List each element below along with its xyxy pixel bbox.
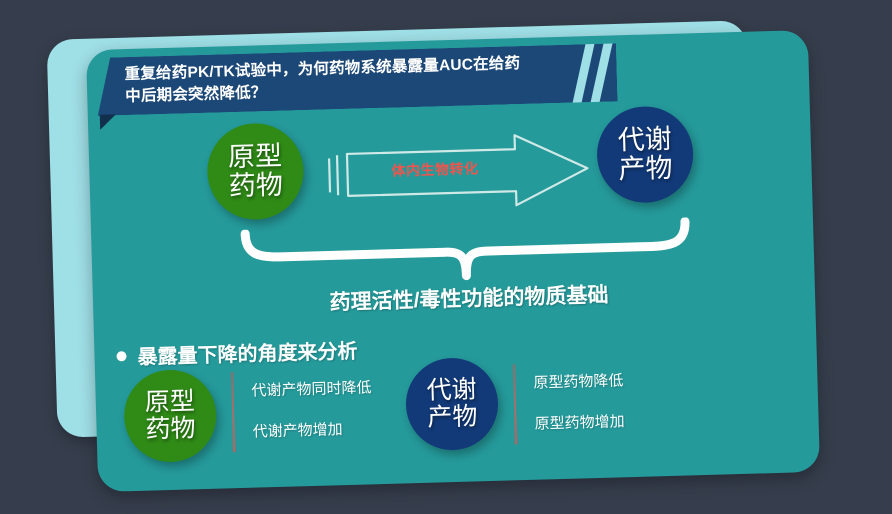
circle-parent-drug-bottom-line1: 原型 bbox=[144, 388, 195, 416]
analysis-bullet-row: 暴露量下降的角度来分析 bbox=[116, 335, 358, 371]
group-divider-1 bbox=[231, 372, 235, 452]
analysis-group-metabolite: 原型药物降低 原型药物增加 bbox=[513, 361, 625, 444]
list-item: 原型药物降低 bbox=[533, 369, 624, 393]
title-banner: 重复给药PK/TK试验中，为何药物系统暴露量AUC在给药 中后期会突然降低？ bbox=[96, 43, 618, 123]
slide-canvas: 重复给药PK/TK试验中，为何药物系统暴露量AUC在给药 中后期会突然降低？ 原… bbox=[0, 0, 892, 514]
circle-parent-drug-bottom: 原型 药物 bbox=[123, 369, 218, 464]
biotransformation-arrow: 体内生物转化 bbox=[324, 129, 598, 215]
circle-metabolite-top-line2: 产物 bbox=[618, 154, 673, 185]
group-1-items: 代谢产物同时降低 代谢产物增加 bbox=[251, 368, 373, 441]
list-item: 代谢产物增加 bbox=[252, 417, 373, 441]
list-item: 原型药物增加 bbox=[534, 410, 625, 434]
circle-metabolite-bottom-line1: 代谢 bbox=[426, 376, 477, 404]
circle-metabolite-bottom-line2: 产物 bbox=[427, 403, 478, 431]
circle-parent-drug-top-line2: 药物 bbox=[228, 171, 283, 202]
bullet-dot-icon bbox=[116, 351, 126, 361]
banner-tail-icon bbox=[100, 114, 116, 129]
analysis-bullet-text: 暴露量下降的角度来分析 bbox=[137, 335, 358, 370]
group-divider-2 bbox=[513, 364, 517, 444]
circle-metabolite-top-line1: 代谢 bbox=[617, 125, 672, 156]
circle-parent-drug-bottom-line2: 药物 bbox=[145, 415, 196, 443]
circle-parent-drug-top-line1: 原型 bbox=[228, 142, 283, 173]
circle-metabolite-top: 代谢 产物 bbox=[596, 105, 695, 204]
analysis-group-parent-drug: 代谢产物同时降低 代谢产物增加 bbox=[231, 368, 373, 452]
main-content-card: 重复给药PK/TK试验中，为何药物系统暴露量AUC在给药 中后期会突然降低？ 原… bbox=[86, 30, 820, 492]
circle-parent-drug-top: 原型 药物 bbox=[206, 122, 305, 221]
group-2-items: 原型药物降低 原型药物增加 bbox=[533, 361, 625, 433]
circle-metabolite-bottom: 代谢 产物 bbox=[405, 357, 500, 452]
arrow-label-text: 体内生物转化 bbox=[391, 158, 479, 180]
list-item: 代谢产物同时降低 bbox=[251, 376, 372, 400]
card-inner: 重复给药PK/TK试验中，为何药物系统暴露量AUC在给药 中后期会突然降低？ 原… bbox=[86, 30, 820, 492]
